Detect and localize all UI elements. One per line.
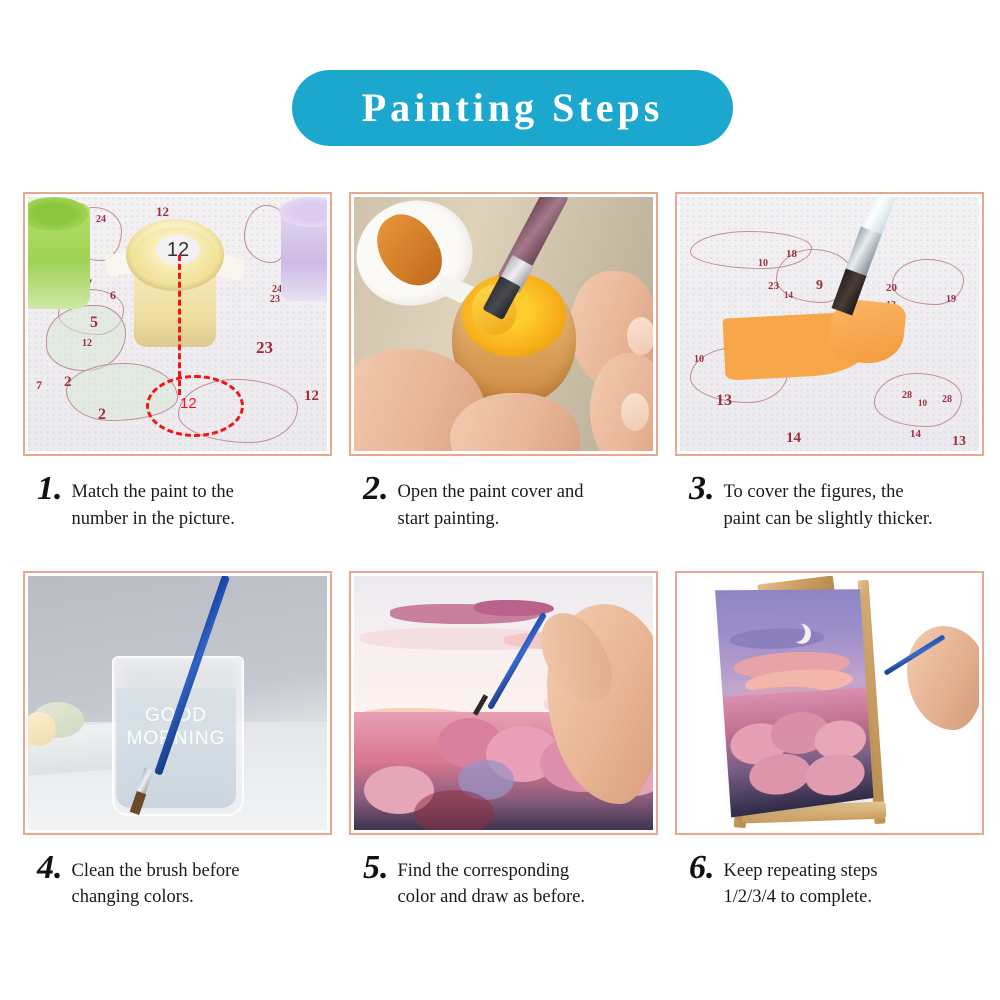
step-card-6: 6. Keep repeating steps 1/2/3/4 to compl… bbox=[675, 571, 984, 912]
page-title-banner: Painting Steps bbox=[292, 70, 733, 146]
step-number: 2. bbox=[363, 472, 398, 506]
page-title: Painting Steps bbox=[362, 88, 664, 128]
canvas-number: 10 bbox=[694, 355, 704, 365]
canvas-number: 19 bbox=[946, 295, 956, 305]
purple-paint-pot bbox=[281, 205, 327, 301]
canvas-number: 14 bbox=[784, 291, 793, 300]
canvas-number: 18 bbox=[786, 249, 797, 260]
callout-dashed-line bbox=[178, 255, 181, 395]
canvas-number: 6 bbox=[110, 289, 116, 301]
canvas-number: 23 bbox=[270, 295, 280, 305]
step-number: 1. bbox=[37, 472, 72, 506]
step-number: 4. bbox=[37, 851, 72, 885]
step-number: 3. bbox=[689, 472, 724, 506]
step-2-photo-frame bbox=[349, 192, 658, 456]
canvas-number: 20 bbox=[886, 283, 897, 294]
step-1-caption: 1. Match the paint to the number in the … bbox=[23, 456, 332, 533]
canvas-number: 14 bbox=[786, 431, 801, 446]
canvas-number: 7 bbox=[36, 379, 42, 391]
blossom-shadow bbox=[414, 790, 494, 830]
canvas-number: 24 bbox=[96, 215, 106, 225]
finished-painting-easel-photo bbox=[680, 576, 979, 830]
canvas-number: 23 bbox=[256, 339, 273, 356]
step-4-caption: 4. Clean the brush before changing color… bbox=[23, 835, 332, 912]
step-5-photo-frame bbox=[349, 571, 658, 835]
step-3-caption: 3. To cover the figures, the paint can b… bbox=[675, 456, 984, 533]
canvas-number: 23 bbox=[768, 281, 779, 292]
callout-number: 12 bbox=[180, 395, 197, 412]
canvas-number: 10 bbox=[918, 399, 927, 408]
steps-grid: 12 24 2 7 6 5 12 2 7 2 23 24 23 12 bbox=[23, 192, 983, 911]
canvas-number: 10 bbox=[758, 259, 768, 269]
step-card-4: GOOD MORNING 4. Clean the brush before c… bbox=[23, 571, 332, 912]
canvas-number: 14 bbox=[910, 429, 921, 440]
step-card-5: 5. Find the corresponding color and draw… bbox=[349, 571, 658, 912]
canvas-number: 12 bbox=[82, 339, 92, 349]
step-6-photo-frame bbox=[675, 571, 984, 835]
canvas-number: 5 bbox=[90, 315, 98, 331]
step-description: To cover the figures, the paint can be s… bbox=[724, 472, 933, 533]
step-number: 6. bbox=[689, 851, 724, 885]
open-paint-pot-photo bbox=[354, 197, 653, 451]
fingernail bbox=[621, 393, 649, 431]
rinse-brush-in-glass-photo: GOOD MORNING bbox=[28, 576, 327, 830]
step-4-photo-frame: GOOD MORNING bbox=[23, 571, 332, 835]
step-card-2: 2. Open the paint cover and start painti… bbox=[349, 192, 658, 533]
step-card-1: 12 24 2 7 6 5 12 2 7 2 23 24 23 12 bbox=[23, 192, 332, 533]
crescent-moon-icon bbox=[785, 621, 806, 642]
canvas-number: 9 bbox=[816, 279, 823, 293]
step-description: Clean the brush before changing colors. bbox=[72, 851, 240, 912]
brush-stroke-canvas-photo: 18 10 23 14 9 20 13 19 10 20 13 14 28 10… bbox=[680, 197, 979, 451]
fingernail bbox=[627, 317, 653, 355]
step-6-caption: 6. Keep repeating steps 1/2/3/4 to compl… bbox=[675, 835, 984, 912]
step-number: 5. bbox=[363, 851, 398, 885]
canvas-number: 2 bbox=[64, 375, 72, 390]
canvas-number: 28 bbox=[902, 391, 912, 401]
canvas-number: 12 bbox=[304, 389, 319, 404]
step-1-photo-frame: 12 24 2 7 6 5 12 2 7 2 23 24 23 12 bbox=[23, 192, 332, 456]
step-description: Find the corresponding color and draw as… bbox=[398, 851, 585, 912]
step-5-caption: 5. Find the corresponding color and draw… bbox=[349, 835, 658, 912]
step-3-photo-frame: 18 10 23 14 9 20 13 19 10 20 13 14 28 10… bbox=[675, 192, 984, 456]
finished-canvas bbox=[715, 589, 873, 817]
cloud bbox=[728, 627, 825, 651]
canvas-number: 28 bbox=[942, 395, 952, 405]
step-2-caption: 2. Open the paint cover and start painti… bbox=[349, 456, 658, 533]
step-description: Open the paint cover and start painting. bbox=[398, 472, 584, 533]
step-card-3: 18 10 23 14 9 20 13 19 10 20 13 14 28 10… bbox=[675, 192, 984, 533]
canvas-number: 2 bbox=[98, 407, 106, 423]
step-description: Match the paint to the number in the pic… bbox=[72, 472, 235, 533]
canvas-number: 12 bbox=[156, 205, 169, 218]
painting-blossoms-photo bbox=[354, 576, 653, 830]
green-paint-pot bbox=[28, 203, 90, 309]
step-description: Keep repeating steps 1/2/3/4 to complete… bbox=[724, 851, 878, 912]
paint-pot-number-match-photo: 12 24 2 7 6 5 12 2 7 2 23 24 23 12 bbox=[28, 197, 327, 451]
canvas-number: 13 bbox=[716, 393, 732, 409]
canvas-number: 13 bbox=[952, 435, 966, 449]
